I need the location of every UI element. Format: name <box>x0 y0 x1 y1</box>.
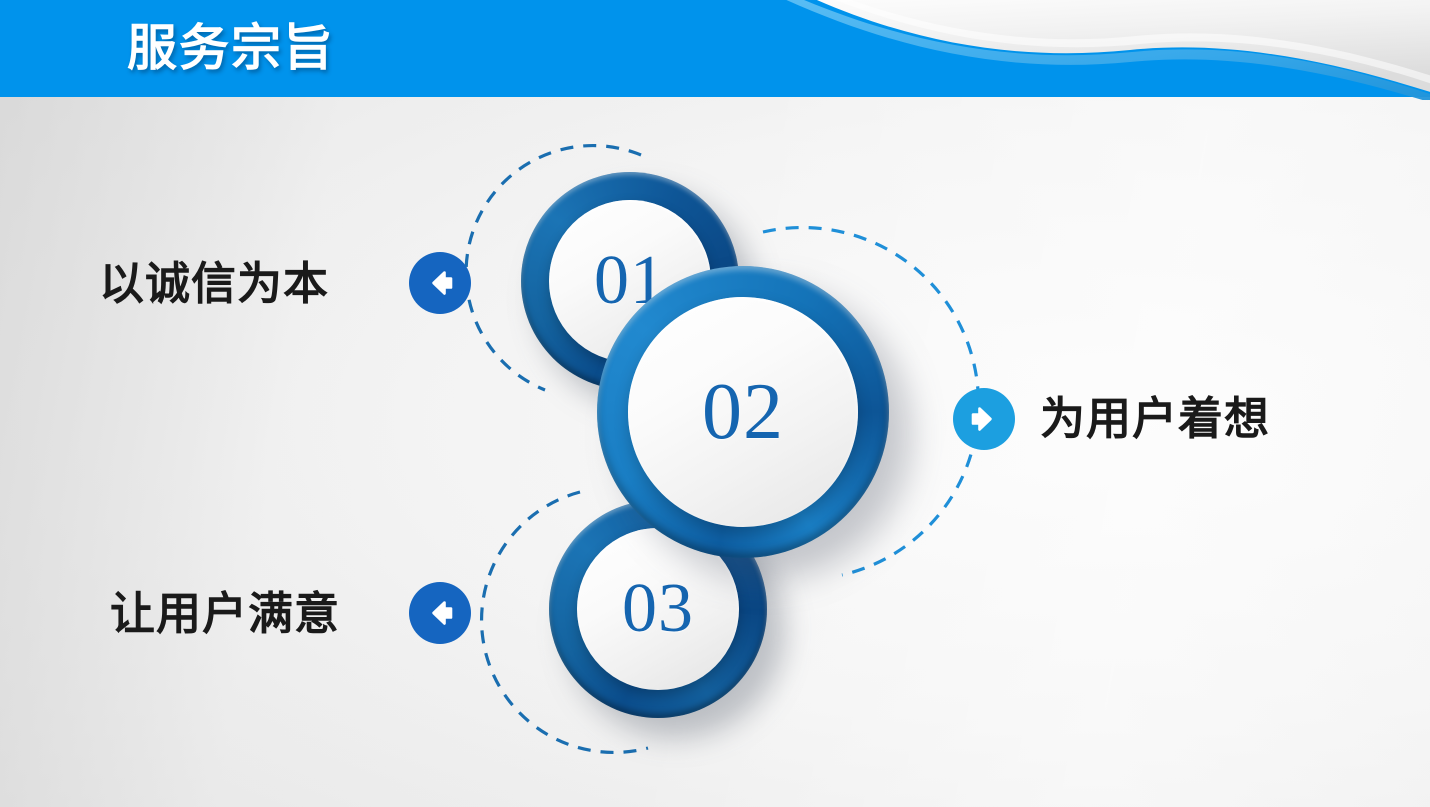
arrow-right-circle-icon[interactable] <box>953 388 1015 450</box>
arrow-left-circle-icon[interactable] <box>409 252 471 314</box>
step-03-label: 让用户满意 <box>110 585 340 643</box>
arrow-left-circle-icon[interactable] <box>409 582 471 644</box>
slide-canvas: 服务宗旨 03 01 02 以诚信为本 为用户着想 让用户 <box>0 0 1430 807</box>
step-01-label: 以诚信为本 <box>99 255 329 313</box>
step-02-label: 为用户着想 <box>1040 390 1270 448</box>
page-title: 服务宗旨 <box>127 17 335 79</box>
circle-02-number: 02 <box>628 297 858 527</box>
